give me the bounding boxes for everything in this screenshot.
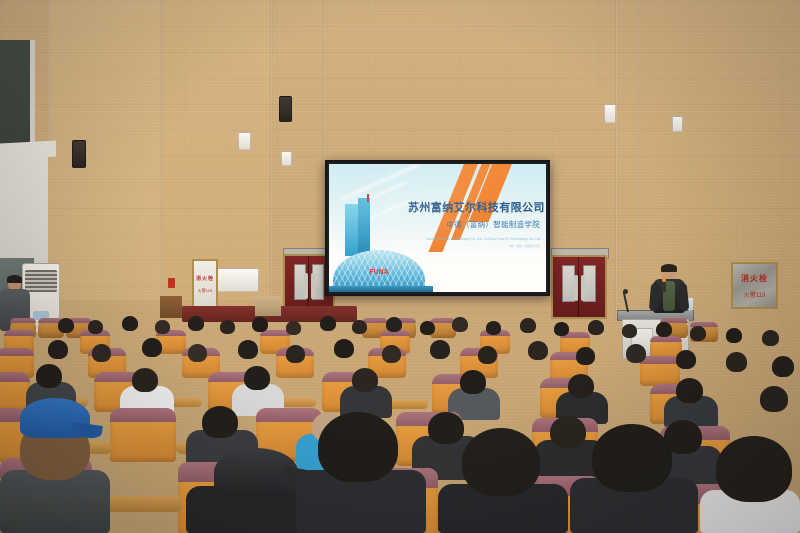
attendee-head <box>460 370 486 394</box>
seat-headrest <box>10 318 36 323</box>
attendee-head <box>726 328 742 343</box>
slide-subtitle: 中德（富纳）智能制造学院 <box>408 219 540 230</box>
attendee-head <box>762 330 779 346</box>
seat[interactable] <box>110 408 176 462</box>
attendee-head <box>430 340 450 359</box>
side-table-left <box>160 296 182 318</box>
attendee-head <box>155 320 170 334</box>
attendee-head <box>36 364 62 388</box>
door-push-bar-left[interactable] <box>304 273 308 299</box>
wall-seam-4 <box>615 0 618 318</box>
presenter-arm-left <box>678 283 690 312</box>
attendee-head <box>352 368 378 392</box>
wall-seam-3 <box>323 0 326 160</box>
attendee-head <box>622 324 637 338</box>
attendee-head <box>626 344 646 363</box>
attendee-head <box>656 322 672 337</box>
fire-cabinet-left-title: 消火栓 <box>196 275 214 282</box>
attendee-head <box>716 436 792 502</box>
auditorium-photo: 消火栓 火警119 消火栓 火警119 FUNA 苏 <box>0 0 800 533</box>
attendee-head <box>428 412 464 444</box>
attendee-head <box>286 345 305 363</box>
skyscraper-antenna <box>367 194 369 202</box>
attendee-head <box>244 366 270 390</box>
wall-seam-2 <box>270 0 273 300</box>
fire-hydrant-cabinet-right[interactable]: 消火栓 火警119 <box>731 262 778 309</box>
skyscraper-right <box>358 198 370 256</box>
attendee-head <box>452 317 468 332</box>
attendee-head <box>568 374 594 398</box>
wall-seam-1 <box>160 0 163 300</box>
building-base <box>329 286 433 292</box>
attendee-head <box>462 428 540 496</box>
attendee-head <box>588 320 604 335</box>
door-push-bar-left[interactable] <box>574 275 578 301</box>
slide-title: 苏州富纳艾尔科技有限公司 <box>408 203 540 215</box>
attendee-head <box>132 368 158 392</box>
attendee-head <box>486 321 501 335</box>
control-panel[interactable] <box>215 268 259 292</box>
attendee-head <box>318 412 398 482</box>
presenter <box>645 265 693 315</box>
projection-screen[interactable]: FUNA 苏州富纳艾尔科技有限公司 中德（富纳）智能制造学院 Suzhou Fu… <box>325 160 550 296</box>
attendee-head <box>252 317 268 332</box>
attendee-head <box>726 352 747 372</box>
wall-seam-6 <box>48 0 51 150</box>
fire-hydrant-cabinet-left[interactable]: 消火栓 火警119 <box>192 259 218 309</box>
presenter-hair <box>661 264 677 272</box>
presentation-slide: FUNA 苏州富纳艾尔科技有限公司 中德（富纳）智能制造学院 Suzhou Fu… <box>329 164 546 292</box>
fire-cabinet-right-title: 消火栓 <box>741 273 768 284</box>
attendee-head <box>520 318 536 333</box>
attendee-head <box>478 346 497 364</box>
fire-cabinet-right-subtitle: 火警119 <box>744 290 766 299</box>
attendee-head <box>690 326 706 341</box>
wall-device-c <box>604 104 616 123</box>
gooseneck-microphone-head <box>623 289 628 294</box>
attendee-head <box>142 338 162 357</box>
attendee-head <box>320 316 336 331</box>
slide-text-block: 苏州富纳艾尔科技有限公司 中德（富纳）智能制造学院 Suzhou Funa Er… <box>408 203 540 249</box>
door-push-bar-right[interactable] <box>581 275 585 301</box>
attendee-head <box>334 339 354 358</box>
wall-speaker-left <box>72 140 86 168</box>
emergency-exit-indicator <box>168 278 175 288</box>
handheld-microphone <box>662 281 666 292</box>
staff-hair <box>7 275 22 283</box>
seat-headrest <box>0 348 34 356</box>
attendee-head <box>122 316 138 331</box>
wall-device-d <box>672 116 683 132</box>
attendee-head <box>576 347 595 365</box>
attendee-head <box>592 424 672 492</box>
seat-headrest <box>640 356 680 364</box>
side-table-center <box>255 296 281 316</box>
attendee-head <box>352 320 367 334</box>
attendee-head <box>386 317 402 332</box>
skyscraper-left <box>345 204 358 256</box>
attendee-head <box>58 318 74 333</box>
seat-headrest <box>110 408 176 422</box>
door-right[interactable] <box>551 255 607 319</box>
wall-speaker-center <box>279 96 292 122</box>
seat-headrest <box>4 330 34 336</box>
fire-cabinet-left-subtitle: 火警119 <box>198 288 212 294</box>
attendee-head <box>286 321 301 335</box>
seat-headrest <box>256 408 322 422</box>
attendee-head <box>554 322 569 336</box>
attendee-head <box>220 320 235 334</box>
door-push-bar-right[interactable] <box>311 273 315 299</box>
seat-headrest <box>0 372 30 382</box>
attendee-head <box>202 406 238 438</box>
attendee-head <box>48 340 68 359</box>
attendee-head <box>382 345 401 363</box>
attendee-head <box>676 378 703 403</box>
wall-seam-5 <box>637 0 640 318</box>
attendee-head <box>528 341 548 360</box>
wall-panel-highlight-a <box>48 0 160 300</box>
attendee-head <box>188 316 204 331</box>
wall-panel-highlight-b <box>160 0 270 300</box>
wall-device-a <box>238 132 251 150</box>
wall-device-b <box>281 151 292 166</box>
attendee-head <box>550 416 586 448</box>
attendee-head <box>420 321 435 335</box>
attendee-head <box>88 320 103 334</box>
attendee-head <box>92 344 111 362</box>
slide-english-line-1: Suzhou Funa Er Technology Co.,Ltd. SuZho… <box>408 237 540 242</box>
attendee-head <box>188 344 207 362</box>
attendee-head <box>238 340 258 359</box>
attendee-head <box>676 350 696 369</box>
dome-building-sign: FUNA <box>369 269 388 276</box>
slide-english-line-2: 中德（富纳）智能制造学院 <box>408 244 540 248</box>
